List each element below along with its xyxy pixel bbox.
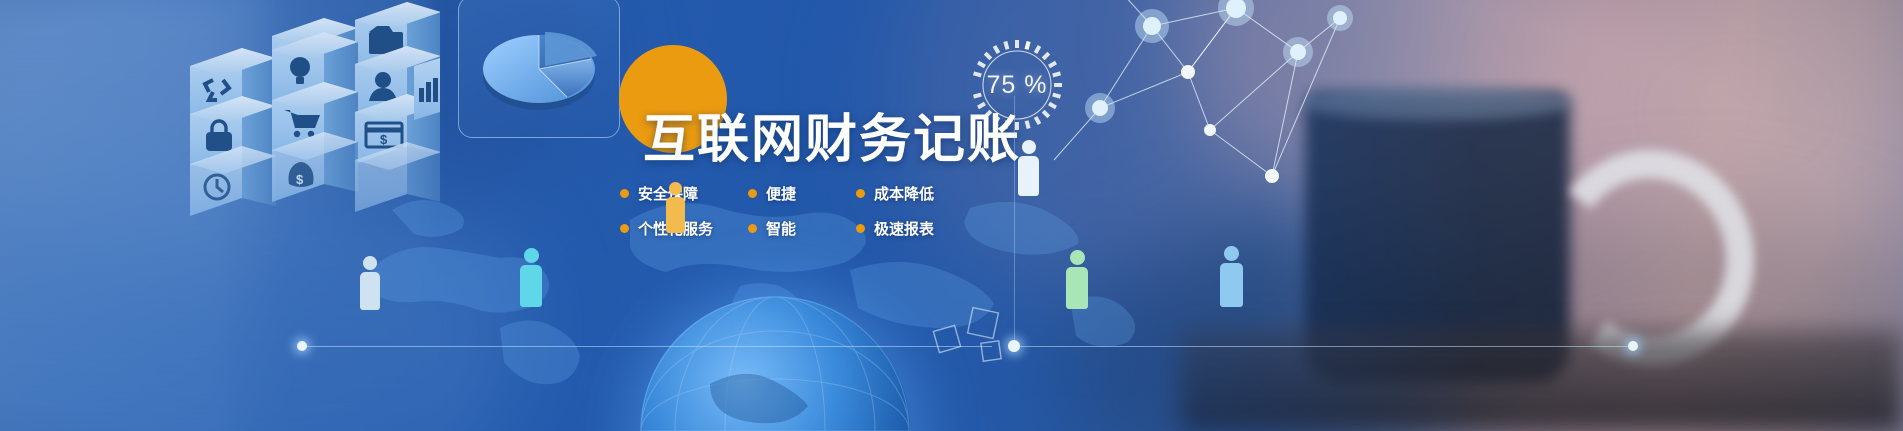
vignette-overlay bbox=[0, 0, 1903, 431]
hero-banner: $ $ bbox=[0, 0, 1903, 431]
